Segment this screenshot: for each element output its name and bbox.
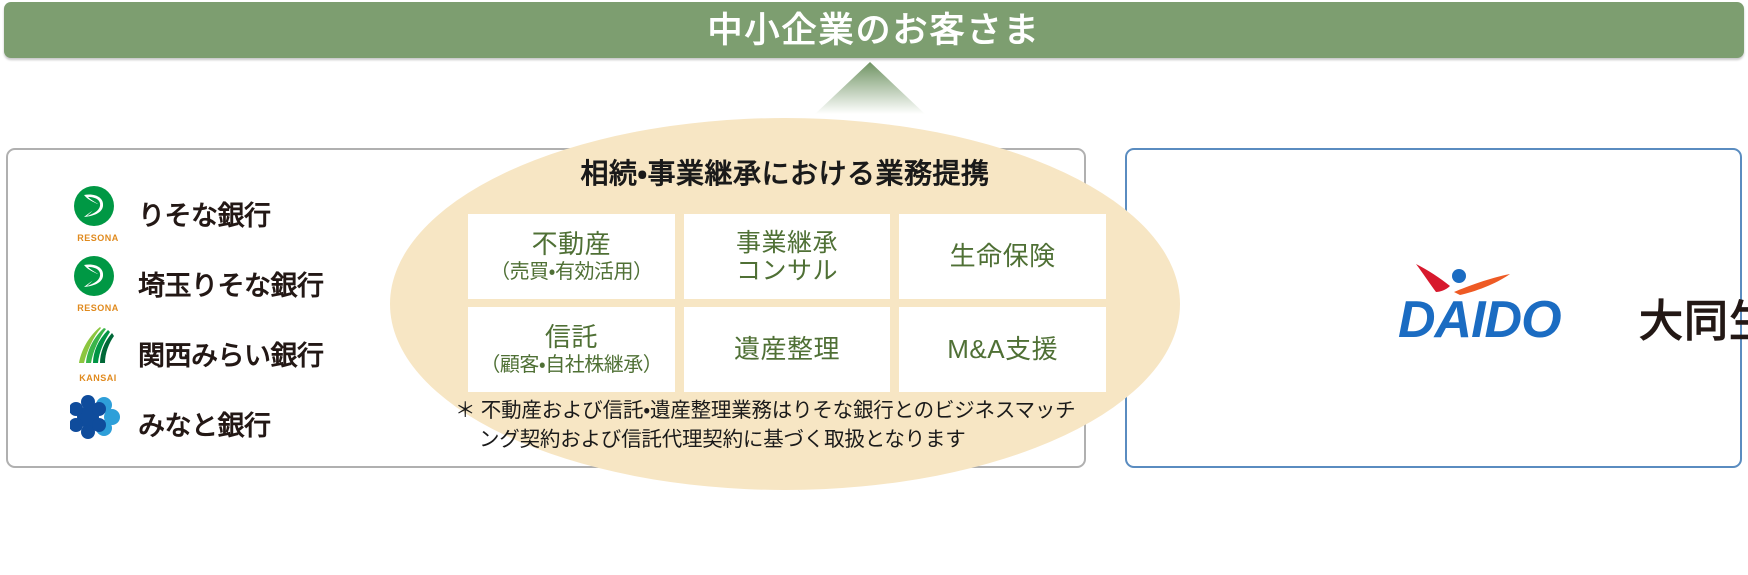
bank-name: 埼玉りそな銀行 bbox=[138, 264, 324, 303]
daido-japanese-name: 大同生命 bbox=[1639, 300, 1748, 344]
daido-wordmark: DAIDO bbox=[1398, 294, 1561, 346]
service-card[interactable]: 遺産整理 bbox=[684, 307, 891, 392]
footnote: ＊ 不動産および信託・遺産整理業務はりそな銀行とのビジネスマッチ ング契約および… bbox=[455, 396, 1115, 454]
service-grid: 不動産 （売買・有効活用） 事業継承 コンサル 生命保険 信託 （顧客・自社株継… bbox=[468, 214, 1106, 392]
bank-name: 関西みらい銀行 bbox=[138, 334, 324, 373]
logo-caption: RESONA bbox=[70, 303, 126, 313]
service-card-subtitle: コンサル bbox=[736, 257, 838, 285]
resona-logo-icon: RESONA bbox=[70, 255, 126, 311]
service-card-title: 生命保険 bbox=[950, 242, 1056, 271]
up-arrow-icon bbox=[815, 62, 925, 114]
daido-logo: DAIDO 大同生命 bbox=[1398, 262, 1748, 346]
footnote-line-1: ＊ 不動産および信託・遺産整理業務はりそな銀行とのビジネスマッチ bbox=[455, 399, 1075, 422]
kansai-mirai-logo-icon: KANSAI bbox=[70, 325, 126, 381]
service-card-title: 事業継承 bbox=[736, 229, 838, 257]
list-item: みなと銀行 bbox=[70, 392, 450, 454]
partnership-title: 相続・事業継承における業務提携 bbox=[390, 152, 1180, 192]
infographic-root: 中小企業のお客さま RESONA bbox=[0, 0, 1748, 575]
service-card-subtitle: （売買・有効活用） bbox=[490, 261, 652, 283]
service-card-title: 不動産 bbox=[532, 230, 612, 259]
service-card-title: M&A支援 bbox=[947, 335, 1058, 364]
header-banner: 中小企業のお客さま bbox=[4, 2, 1744, 58]
service-card[interactable]: 事業継承 コンサル bbox=[684, 214, 891, 299]
list-item: KANSAI 関西みらい銀行 bbox=[70, 322, 450, 384]
service-card[interactable]: 生命保険 bbox=[899, 214, 1106, 299]
bank-name: みなと銀行 bbox=[138, 404, 271, 443]
service-card-title: 遺産整理 bbox=[734, 335, 840, 364]
logo-caption: KANSAI bbox=[70, 373, 126, 383]
logo-caption: RESONA bbox=[70, 233, 126, 243]
minato-logo-icon bbox=[70, 395, 126, 451]
service-card[interactable]: M&A支援 bbox=[899, 307, 1106, 392]
footnote-line-2: ング契約および信託代理契約に基づく取扱となります bbox=[455, 425, 1115, 454]
resona-logo-icon: RESONA bbox=[70, 185, 126, 241]
bank-name: りそな銀行 bbox=[138, 194, 271, 233]
service-card-title: 信託 bbox=[545, 323, 598, 352]
service-card[interactable]: 信託 （顧客・自社株継承） bbox=[468, 307, 675, 392]
service-card[interactable]: 不動産 （売買・有効活用） bbox=[468, 214, 675, 299]
daido-figure-mark-icon: DAIDO bbox=[1398, 262, 1613, 346]
service-card-subtitle: （顧客・自社株継承） bbox=[480, 354, 662, 376]
header-banner-title: 中小企業のお客さま bbox=[707, 13, 1040, 48]
